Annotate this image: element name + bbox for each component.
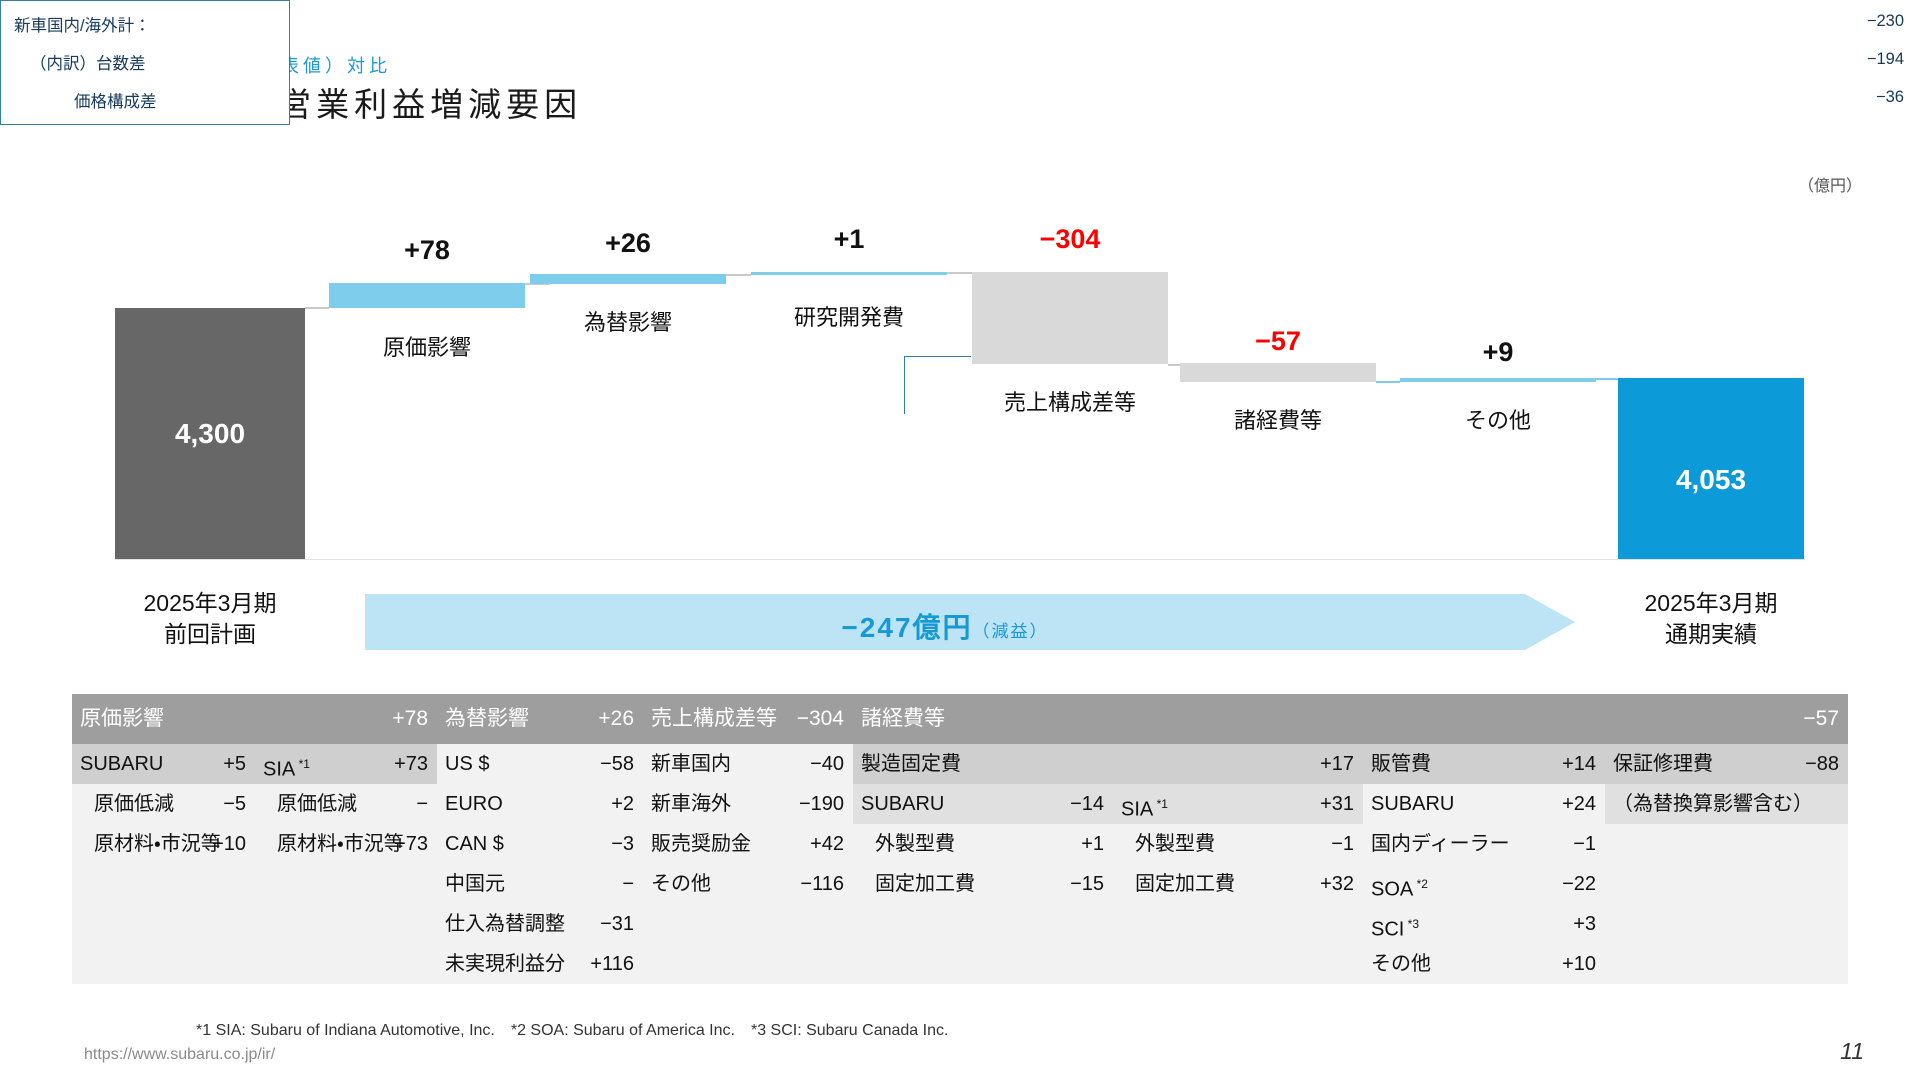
table-group-header-label: 為替影響	[445, 694, 529, 744]
table-group-header-label: 売上構成差等	[651, 694, 777, 744]
table-row-value: −3	[611, 824, 634, 864]
table-subheader: 販管費+14	[1363, 744, 1605, 784]
page-title: 通期実績 営業利益増減要因	[112, 78, 582, 126]
table-filler	[1113, 904, 1363, 984]
table-row: 原価低減−5	[72, 784, 255, 824]
table-row-value: −22	[1562, 864, 1596, 904]
table-row-value: −15	[1070, 864, 1104, 904]
table-row-label: 原材料・市況等	[94, 824, 221, 864]
table-subheader-label: SUBARU	[80, 744, 163, 784]
table-row-value: +1	[1081, 824, 1104, 864]
table-row-value: −190	[799, 784, 844, 824]
table-group-header: 諸経費等−57	[853, 694, 1848, 744]
bar-rnd-expense	[751, 272, 947, 275]
net-change-band: −247億円（減益）	[365, 594, 1575, 650]
table-group-header: 原価影響+78	[72, 694, 437, 744]
category-sales-mix: 売上構成差等	[952, 385, 1188, 417]
bar-sales-mix	[972, 272, 1168, 364]
table-row: EURO+2	[437, 784, 643, 824]
table-row: 新車国内−40	[643, 744, 853, 784]
table-subheader: SUBARU+5	[72, 744, 255, 784]
table-row-value: +73	[394, 824, 428, 864]
table-row-value: +2	[611, 784, 634, 824]
table-row: 原価低減−	[255, 784, 437, 824]
unit-label: （億円）	[1798, 172, 1862, 196]
connector-5	[1168, 364, 1193, 366]
table-row: US $−58	[437, 744, 643, 784]
table-row-label: 新車海外	[651, 784, 731, 824]
connector-7	[1596, 378, 1618, 380]
footnote-marker: *3	[1404, 917, 1419, 931]
delta-expenses: −57	[1180, 326, 1376, 357]
table-group-header-value: −57	[1803, 694, 1839, 744]
table-row-label: 国内ディーラー	[1371, 824, 1510, 864]
table-subheader-value: −88	[1805, 744, 1839, 784]
chart-baseline	[115, 559, 1805, 560]
table-subheader: 製造固定費+17	[853, 744, 1363, 784]
footnotes: *1 SIA: Subaru of Indiana Automotive, In…	[196, 1016, 948, 1040]
footer-url[interactable]: https://www.subaru.co.jp/ir/	[84, 1046, 275, 1064]
bar-end-actual	[1618, 378, 1804, 560]
category-cost-impact: 原価影響	[309, 330, 545, 362]
axis-label-start: 2025年3月期 前回計画	[95, 588, 325, 650]
bar-end-value: 4,053	[1618, 464, 1804, 496]
delta-fx-impact: +26	[530, 228, 726, 259]
connector-4	[947, 272, 972, 274]
table-group-header-label: 原価影響	[80, 694, 164, 744]
table-subheader-value: +73	[394, 744, 428, 784]
bar-start-plan	[115, 308, 305, 560]
table-subheader-label: 販管費	[1371, 744, 1431, 784]
table-row-value: −5	[223, 784, 246, 824]
table-row-label: SOA *2	[1371, 864, 1428, 904]
header-kicker: 前回計画（2/7発表値）対比	[112, 52, 391, 78]
table-row: 原材料・市況等+10	[72, 824, 255, 864]
connector-6	[1376, 381, 1400, 383]
table-row-value: +116	[590, 944, 634, 984]
band-suffix: （減益）	[973, 622, 1049, 641]
category-fx-impact: 為替影響	[510, 305, 746, 337]
table-row-label: 原価低減	[277, 784, 357, 824]
table-row-label: 固定加工費	[875, 864, 975, 904]
callout-value-2: −36	[1876, 88, 1904, 107]
table-row-label: SIA *1	[1121, 784, 1168, 824]
table-row-value: +24	[1562, 784, 1596, 824]
table-subheader-value: +14	[1562, 744, 1596, 784]
table-group-header-label: 諸経費等	[861, 694, 945, 744]
table-row-label: その他	[651, 864, 711, 904]
bar-fx-impact	[530, 274, 726, 284]
table-row: SUBARU+24	[1363, 784, 1605, 824]
table-row-label: 未実現利益分	[445, 944, 565, 984]
leader-vertical	[904, 356, 905, 414]
table-group-header-value: +26	[598, 694, 634, 744]
table-row-value: −40	[810, 744, 844, 784]
table-row: 未実現利益分+116	[437, 944, 643, 984]
connector-2	[525, 283, 550, 285]
table-row-label: EURO	[445, 784, 503, 824]
table-subheader-label: 保証修理費	[1613, 744, 1713, 784]
table-filler	[643, 904, 853, 984]
table-group-header-value: +78	[392, 694, 428, 744]
table-row-label: 固定加工費	[1135, 864, 1235, 904]
callout-value-1: −194	[1867, 50, 1904, 69]
table-row-label: CAN $	[445, 824, 504, 864]
table-subheader-value: +5	[223, 744, 246, 784]
table-row-label: その他	[1371, 944, 1431, 984]
table-row-value: −116	[800, 864, 844, 904]
table-filler	[853, 904, 1113, 984]
connector-3	[726, 274, 751, 276]
band-text: −247億円（減益）	[365, 606, 1525, 646]
bar-start-value: 4,300	[115, 418, 305, 450]
table-row: 販売奨励金+42	[643, 824, 853, 864]
delta-cost-impact: +78	[329, 235, 525, 266]
bar-other	[1400, 378, 1596, 382]
table-row-label: 仕入為替調整	[445, 904, 565, 944]
table-group-header: 為替影響+26	[437, 694, 643, 744]
category-rnd-expense: 研究開発費	[731, 300, 967, 332]
table-row-label: 原材料・市況等	[277, 824, 404, 864]
table-row: SOA *2−22	[1363, 864, 1605, 904]
band-amount: −247億円	[841, 612, 972, 643]
category-other: その他	[1380, 403, 1616, 435]
table-row: CAN $−3	[437, 824, 643, 864]
table-row: （為替換算影響含む）	[1605, 784, 1848, 824]
axis-label-end-line2: 通期実績	[1665, 621, 1757, 647]
bar-cost-impact	[329, 283, 525, 308]
axis-label-start-line2: 前回計画	[164, 621, 256, 647]
table-subheader-value: +17	[1320, 744, 1354, 784]
table-row-value: −1	[1331, 824, 1354, 864]
table-row: SUBARU−14	[853, 784, 1113, 824]
table-row-value: −31	[600, 904, 634, 944]
table-row: 新車海外−190	[643, 784, 853, 824]
table-row-value: +10	[1562, 944, 1596, 984]
accent-rule	[84, 56, 89, 124]
table-row: その他−116	[643, 864, 853, 904]
table-row-value: +10	[212, 824, 246, 864]
table-row-value: −14	[1070, 784, 1104, 824]
table-row: 国内ディーラー−1	[1363, 824, 1605, 864]
table-row-value: −	[416, 784, 428, 824]
breakdown-table: 原価影響+78SUBARU+5原価低減−5原材料・市況等+10SIA *1+73…	[72, 694, 1848, 984]
delta-rnd-expense: +1	[751, 224, 947, 255]
axis-label-start-line1: 2025年3月期	[144, 590, 277, 616]
table-row-value: +32	[1320, 864, 1354, 904]
table-group-header-value: −304	[797, 694, 844, 744]
table-row-label: US $	[445, 744, 489, 784]
callout-value-0: −230	[1867, 12, 1904, 31]
table-row-label: SUBARU	[861, 784, 944, 824]
table-row-label: 外製型費	[875, 824, 955, 864]
table-row-value: +42	[810, 824, 844, 864]
table-row: 原材料・市況等+73	[255, 824, 437, 864]
table-filler	[72, 864, 255, 984]
axis-label-end-line1: 2025年3月期	[1645, 590, 1778, 616]
table-row-label: 原価低減	[94, 784, 174, 824]
table-row: 外製型費+1	[853, 824, 1113, 864]
footnote-marker: *1	[295, 757, 310, 771]
axis-label-end: 2025年3月期 通期実績	[1596, 588, 1826, 650]
table-subheader-label: SIA *1	[263, 744, 310, 784]
table-row: 仕入為替調整−31	[437, 904, 643, 944]
table-row-label: 新車国内	[651, 744, 731, 784]
table-row: SIA *1+31	[1113, 784, 1363, 824]
table-subheader: SIA *1+73	[255, 744, 437, 784]
callout-label-0: 新車国内/海外計：	[14, 12, 151, 36]
category-expenses: 諸経費等	[1160, 403, 1396, 435]
band-arrow-tip	[1525, 594, 1575, 650]
table-subheader-label: 製造固定費	[861, 744, 961, 784]
table-row-value: −58	[600, 744, 634, 784]
table-row: 中国元−	[437, 864, 643, 904]
table-row: 外製型費−1	[1113, 824, 1363, 864]
table-subheader: 保証修理費−88	[1605, 744, 1848, 784]
table-row: その他+10	[1363, 944, 1605, 984]
table-group-header: 売上構成差等−304	[643, 694, 853, 744]
footnote-marker: *2	[1413, 877, 1428, 891]
table-row-value: −	[622, 864, 634, 904]
table-row-value: +3	[1573, 904, 1596, 944]
table-row-value: −1	[1573, 824, 1596, 864]
table-filler	[1605, 824, 1848, 984]
table-row: 固定加工費+32	[1113, 864, 1363, 904]
table-row-label: 中国元	[445, 864, 505, 904]
table-row: 固定加工費−15	[853, 864, 1113, 904]
delta-sales-mix: −304	[972, 224, 1168, 255]
delta-other: +9	[1400, 337, 1596, 368]
table-row-label: 販売奨励金	[651, 824, 751, 864]
table-row-label: 外製型費	[1135, 824, 1215, 864]
table-row-label: SCI *3	[1371, 904, 1419, 944]
page-number: 11	[1840, 1038, 1864, 1065]
connector-1	[305, 307, 329, 309]
bar-expenses	[1180, 363, 1376, 382]
table-filler	[255, 864, 437, 984]
table-row-label: SUBARU	[1371, 784, 1454, 824]
table-row-label: （為替換算影響含む）	[1613, 784, 1813, 824]
leader-horizontal-top	[905, 356, 971, 357]
footnote-marker: *1	[1153, 797, 1168, 811]
table-row: SCI *3+3	[1363, 904, 1605, 944]
table-row-value: +31	[1320, 784, 1354, 824]
